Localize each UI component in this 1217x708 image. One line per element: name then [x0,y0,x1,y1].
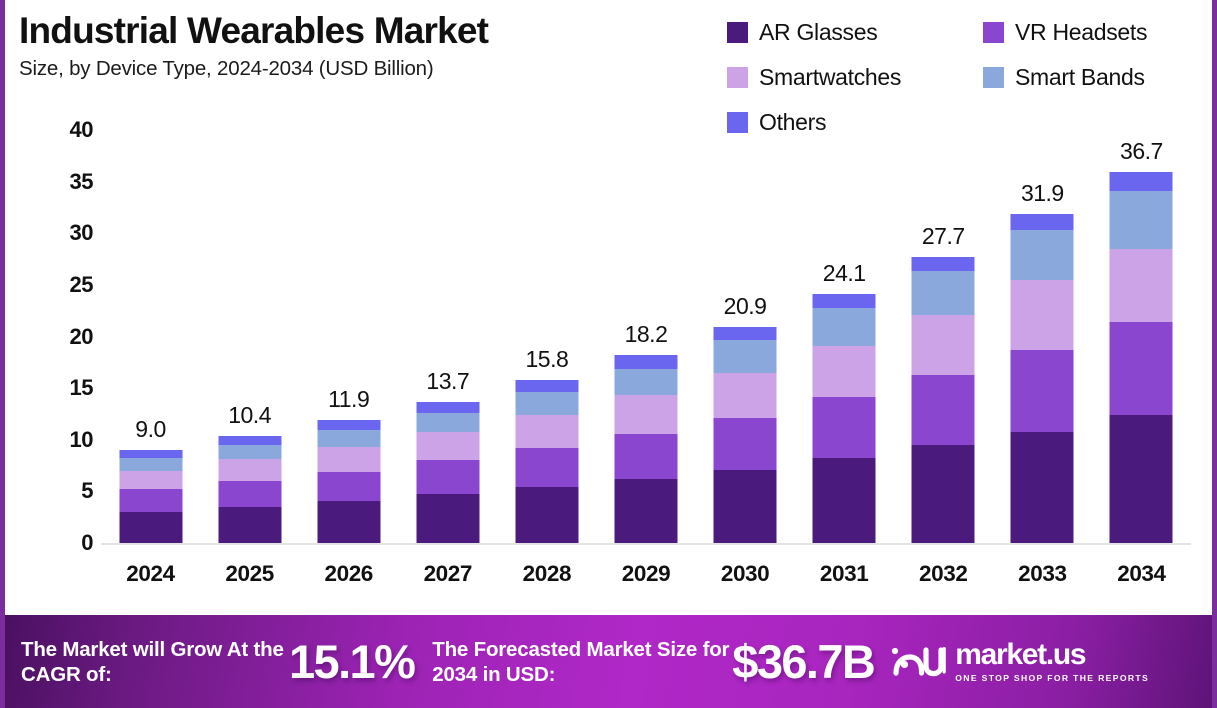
y-axis-tick-label: 35 [70,169,93,195]
bar-stack[interactable] [119,450,182,543]
x-axis-label-2027: 2027 [424,561,472,587]
bar-segment-vr-headsets[interactable] [1110,322,1173,415]
legend-item-label: VR Headsets [1015,19,1147,46]
bar-total-label: 36.7 [1120,138,1163,165]
bar-segment-others[interactable] [416,402,479,413]
bar-segment-smart-bands[interactable] [218,445,281,459]
bar-segment-smartwatches[interactable] [912,315,975,375]
bar-segment-vr-headsets[interactable] [813,397,876,458]
bar-group-2033[interactable]: 31.92033 [993,112,1092,602]
logo-name: market.us [955,640,1149,670]
legend-item-label: Smartwatches [759,64,901,91]
bar-total-label: 10.4 [228,402,271,429]
market-us-logo: market.us ONE STOP SHOP FOR THE REPORTS [890,640,1149,683]
bar-stack[interactable] [714,327,777,543]
bar-segment-vr-headsets[interactable] [218,481,281,507]
bar-segment-vr-headsets[interactable] [714,418,777,470]
bar-segment-others[interactable] [317,420,380,430]
y-axis-tick-label: 20 [70,324,93,350]
bar-stack[interactable] [317,420,380,543]
bar-stack[interactable] [1011,214,1074,543]
x-axis-label-2034: 2034 [1117,561,1165,587]
legend-item-smart-bands[interactable]: Smart Bands [983,55,1205,100]
bar-segment-others[interactable] [614,355,677,368]
bar-segment-others[interactable] [813,294,876,307]
bar-segment-smartwatches[interactable] [614,395,677,433]
bar-segment-smartwatches[interactable] [1110,249,1173,322]
bar-segment-others[interactable] [912,257,975,271]
x-axis-label-2029: 2029 [622,561,670,587]
bar-total-label: 13.7 [426,368,469,395]
bar-segment-smart-bands[interactable] [912,271,975,314]
y-axis: 0510152025303540 [35,112,93,602]
bar-segment-vr-headsets[interactable] [119,489,182,512]
bar-group-2024[interactable]: 9.02024 [101,112,200,602]
x-axis-label-2032: 2032 [919,561,967,587]
legend-swatch-icon [727,67,748,88]
bar-segment-ar-glasses[interactable] [515,487,578,543]
x-axis-label-2026: 2026 [324,561,372,587]
bar-stack[interactable] [515,380,578,543]
forecast-value: $36.7B [732,634,874,689]
y-axis-tick-label: 25 [70,272,93,298]
legend-swatch-icon [983,67,1004,88]
bar-stack[interactable] [218,436,281,543]
bar-group-2029[interactable]: 18.22029 [596,112,695,602]
bar-segment-vr-headsets[interactable] [416,460,479,494]
bar-segment-smartwatches[interactable] [515,415,578,448]
forecast-caption: The Forecasted Market Size for 2034 in U… [432,637,732,687]
bar-segment-ar-glasses[interactable] [912,445,975,543]
bar-segment-smartwatches[interactable] [1011,280,1074,350]
logo-text: market.us ONE STOP SHOP FOR THE REPORTS [955,640,1149,683]
bar-stack[interactable] [1110,172,1173,543]
bar-segment-smart-bands[interactable] [515,392,578,415]
bar-segment-smart-bands[interactable] [1110,191,1173,249]
bar-segment-ar-glasses[interactable] [714,470,777,543]
bar-segment-ar-glasses[interactable] [119,512,182,543]
bar-segment-smartwatches[interactable] [218,459,281,481]
bar-group-2027[interactable]: 13.72027 [398,112,497,602]
bar-segment-smartwatches[interactable] [119,471,182,490]
bar-segment-vr-headsets[interactable] [912,375,975,445]
bar-group-2025[interactable]: 10.42025 [200,112,299,602]
bar-total-label: 20.9 [724,293,767,320]
bar-segment-smart-bands[interactable] [1011,230,1074,280]
bar-segment-smartwatches[interactable] [317,447,380,472]
bar-segment-smart-bands[interactable] [317,430,380,447]
bar-segment-ar-glasses[interactable] [813,458,876,543]
bar-stack[interactable] [614,355,677,543]
market-us-logo-mark-icon [890,640,946,683]
bar-segment-ar-glasses[interactable] [614,479,677,543]
bar-group-2030[interactable]: 20.92030 [696,112,795,602]
bar-total-label: 11.9 [328,386,369,413]
bar-total-label: 15.8 [526,346,569,373]
bar-group-2028[interactable]: 15.82028 [497,112,596,602]
y-axis-tick-label: 0 [81,530,93,556]
bar-segment-others[interactable] [1110,172,1173,191]
bar-segment-smart-bands[interactable] [614,369,677,396]
legend-swatch-icon [983,22,1004,43]
bar-stack[interactable] [912,257,975,543]
bar-segment-ar-glasses[interactable] [218,507,281,543]
y-axis-tick-label: 30 [70,220,93,246]
infographic-root: Industrial Wearables Market Size, by Dev… [0,0,1217,708]
bar-segment-vr-headsets[interactable] [317,472,380,501]
y-axis-tick-label: 10 [70,427,93,453]
bar-segment-others[interactable] [515,380,578,392]
bar-total-label: 31.9 [1021,180,1064,207]
footer-banner: The Market will Grow At the CAGR of: 15.… [5,615,1212,708]
cagr-value: 15.1% [289,634,414,689]
bar-segment-smartwatches[interactable] [714,373,777,418]
bar-total-label: 27.7 [922,223,965,250]
x-axis-label-2028: 2028 [523,561,571,587]
x-axis-label-2031: 2031 [820,561,868,587]
bar-segment-others[interactable] [119,450,182,458]
logo-tagline: ONE STOP SHOP FOR THE REPORTS [955,673,1149,683]
bar-segment-smartwatches[interactable] [416,432,479,461]
bar-total-label: 24.1 [823,260,866,287]
page-title: Industrial Wearables Market [19,10,705,51]
bar-segment-ar-glasses[interactable] [317,501,380,543]
bar-stack[interactable] [813,294,876,543]
bar-group-2031[interactable]: 24.12031 [795,112,894,602]
bar-segment-ar-glasses[interactable] [1011,432,1074,544]
bar-group-2034[interactable]: 36.72034 [1092,112,1191,602]
x-axis-label-2033: 2033 [1018,561,1066,587]
bar-total-label: 18.2 [625,321,668,348]
y-axis-tick-label: 15 [70,375,93,401]
x-axis-label-2024: 2024 [126,561,174,587]
bar-segment-smart-bands[interactable] [416,413,479,432]
y-axis-tick-label: 40 [70,117,93,143]
bar-segment-smart-bands[interactable] [119,458,182,470]
bar-segment-others[interactable] [1011,214,1074,231]
legend-item-vr-headsets[interactable]: VR Headsets [983,10,1205,55]
bar-stack[interactable] [416,402,479,543]
bar-segment-vr-headsets[interactable] [1011,350,1074,432]
plot-area: 0510152025303540 9.0202410.4202511.92026… [5,112,1212,602]
bar-segment-smartwatches[interactable] [813,346,876,398]
bar-segment-smart-bands[interactable] [813,308,876,346]
x-axis-label-2025: 2025 [225,561,273,587]
y-axis-tick-label: 5 [81,478,93,504]
bar-group-2026[interactable]: 11.92026 [299,112,398,602]
bar-segment-ar-glasses[interactable] [416,494,479,543]
chart-header: Industrial Wearables Market Size, by Dev… [5,0,705,81]
legend-swatch-icon [727,22,748,43]
bar-total-label: 9.0 [135,416,165,443]
legend-item-ar-glasses[interactable]: AR Glasses [727,10,983,55]
bar-segment-ar-glasses[interactable] [1110,415,1173,543]
bar-segment-others[interactable] [714,327,777,339]
bar-segment-vr-headsets[interactable] [515,448,578,487]
bar-segment-others[interactable] [218,436,281,445]
bar-segment-smart-bands[interactable] [714,340,777,373]
cagr-caption: The Market will Grow At the CAGR of: [21,637,289,687]
bar-series-container: 9.0202410.4202511.9202613.7202715.820281… [101,112,1191,602]
legend-item-label: Smart Bands [1015,64,1145,91]
bar-segment-vr-headsets[interactable] [614,434,677,479]
legend-item-smartwatches[interactable]: Smartwatches [727,55,983,100]
chart-subtitle: Size, by Device Type, 2024-2034 (USD Bil… [19,57,705,81]
legend-item-label: AR Glasses [759,19,877,46]
x-axis-label-2030: 2030 [721,561,769,587]
bar-group-2032[interactable]: 27.72032 [894,112,993,602]
